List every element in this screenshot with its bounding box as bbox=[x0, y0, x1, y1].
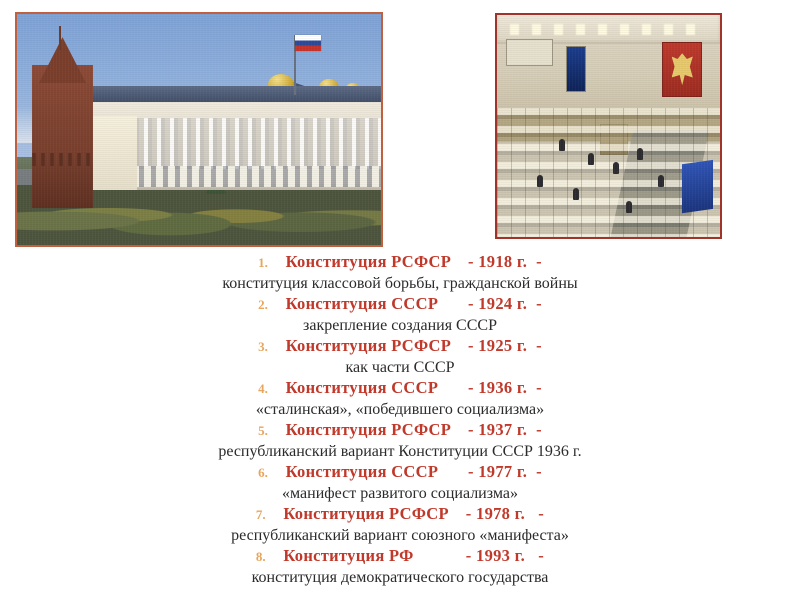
list-item: 1. Конституция РСФСР - 1918 г. - констит… bbox=[0, 252, 800, 294]
constitution-heading: 6. Конституция СССР - 1977 г. - bbox=[0, 462, 800, 483]
person-figure bbox=[658, 175, 664, 187]
kremlin-palace-photo bbox=[15, 12, 383, 247]
person-figure bbox=[573, 188, 579, 200]
constitution-description: как части СССР bbox=[0, 357, 800, 378]
wall-banner bbox=[506, 39, 553, 65]
constitution-heading: 5. Конституция РСФСР - 1937 г. - bbox=[0, 420, 800, 441]
constitution-description: республиканский вариант Конституции СССР… bbox=[0, 441, 800, 462]
trailing-dash: - bbox=[536, 294, 542, 313]
display-screen-icon bbox=[566, 46, 586, 92]
person-figure bbox=[559, 139, 565, 151]
kremlin-tower bbox=[32, 65, 94, 208]
constitution-description: «манифест развитого социализма» bbox=[0, 483, 800, 504]
constitutions-list: 1. Конституция РСФСР - 1918 г. - констит… bbox=[0, 252, 800, 588]
constitution-year: - 1918 г. bbox=[468, 252, 527, 272]
item-number: 3. bbox=[258, 339, 268, 354]
state-duma-hall-photo bbox=[495, 13, 722, 239]
list-item: 2. Конституция СССР - 1924 г. - закрепле… bbox=[0, 294, 800, 336]
trailing-dash: - bbox=[536, 462, 542, 481]
constitution-heading: 7. Конституция РСФСР - 1978 г. - bbox=[0, 504, 800, 525]
constitution-year: - 1978 г. bbox=[466, 504, 525, 524]
trailing-dash: - bbox=[538, 546, 544, 565]
item-number: 6. bbox=[258, 465, 268, 480]
list-item: 4. Конституция СССР - 1936 г. - «сталинс… bbox=[0, 378, 800, 420]
constitution-description: конституция классовой борьбы, гражданско… bbox=[0, 273, 800, 294]
constitution-year: - 1937 г. bbox=[468, 420, 527, 440]
person-figure bbox=[588, 153, 594, 165]
constitution-name: Конституция РСФСР bbox=[286, 420, 464, 440]
person-figure bbox=[626, 201, 632, 213]
constitution-heading: 2. Конституция СССР - 1924 г. - bbox=[0, 294, 800, 315]
constitution-name: Конституция РСФСР bbox=[286, 336, 464, 356]
item-number: 4. bbox=[258, 381, 268, 396]
constitution-name: Конституция СССР bbox=[286, 462, 464, 482]
item-number: 5. bbox=[258, 423, 268, 438]
constitution-heading: 4. Конституция СССР - 1936 г. - bbox=[0, 378, 800, 399]
double-headed-eagle-icon bbox=[672, 53, 693, 85]
item-number: 7. bbox=[256, 507, 266, 522]
list-item: 3. Конституция РСФСР - 1925 г. - как час… bbox=[0, 336, 800, 378]
trailing-dash: - bbox=[536, 336, 542, 355]
ceiling-lights bbox=[510, 24, 706, 35]
constitution-year: - 1977 г. bbox=[468, 462, 527, 482]
person-figure bbox=[637, 148, 643, 160]
item-number: 2. bbox=[258, 297, 268, 312]
constitution-year: - 1925 г. bbox=[468, 336, 527, 356]
constitution-heading: 3. Конституция РСФСР - 1925 г. - bbox=[0, 336, 800, 357]
item-number: 1. bbox=[258, 255, 268, 270]
constitution-description: закрепление создания СССР bbox=[0, 315, 800, 336]
constitution-name: Конституция СССР bbox=[286, 294, 464, 314]
person-figure bbox=[537, 175, 543, 187]
constitution-name: Конституция СССР bbox=[286, 378, 464, 398]
constitution-heading: 1. Конституция РСФСР - 1918 г. - bbox=[0, 252, 800, 273]
constitution-year: - 1993 г. bbox=[466, 546, 525, 566]
constitution-heading: 8. Конституция РФ - 1993 г. - bbox=[0, 546, 800, 567]
constitution-name: Конституция РСФСР bbox=[286, 252, 464, 272]
constitution-description: конституция демократического государства bbox=[0, 567, 800, 588]
trailing-dash: - bbox=[536, 420, 542, 439]
constitution-year: - 1936 г. bbox=[468, 378, 527, 398]
russian-coat-of-arms-icon bbox=[662, 42, 702, 97]
blue-floor-panel bbox=[682, 159, 713, 212]
list-item: 8. Конституция РФ - 1993 г. - конституци… bbox=[0, 546, 800, 588]
kremlin-wall-crenellation bbox=[32, 153, 94, 167]
trailing-dash: - bbox=[536, 252, 542, 271]
russian-flag-icon bbox=[295, 35, 321, 51]
list-item: 5. Конституция РСФСР - 1937 г. - республ… bbox=[0, 420, 800, 462]
constitution-name: Конституция РФ bbox=[283, 546, 461, 566]
constitution-year: - 1924 г. bbox=[468, 294, 527, 314]
kremlin-photo-content bbox=[17, 14, 381, 245]
item-number: 8. bbox=[256, 549, 266, 564]
duma-photo-content bbox=[497, 15, 720, 237]
person-figure bbox=[613, 162, 619, 174]
kremlin-tower-spire bbox=[59, 26, 61, 50]
constitution-name: Конституция РСФСР bbox=[283, 504, 461, 524]
photo-band bbox=[0, 0, 800, 250]
trailing-dash: - bbox=[536, 378, 542, 397]
trailing-dash: - bbox=[538, 504, 544, 523]
constitution-description: республиканский вариант союзного «манифе… bbox=[0, 525, 800, 546]
constitution-description: «сталинская», «победившего социализма» bbox=[0, 399, 800, 420]
list-item: 7. Конституция РСФСР - 1978 г. - республ… bbox=[0, 504, 800, 546]
list-item: 6. Конституция СССР - 1977 г. - «манифес… bbox=[0, 462, 800, 504]
